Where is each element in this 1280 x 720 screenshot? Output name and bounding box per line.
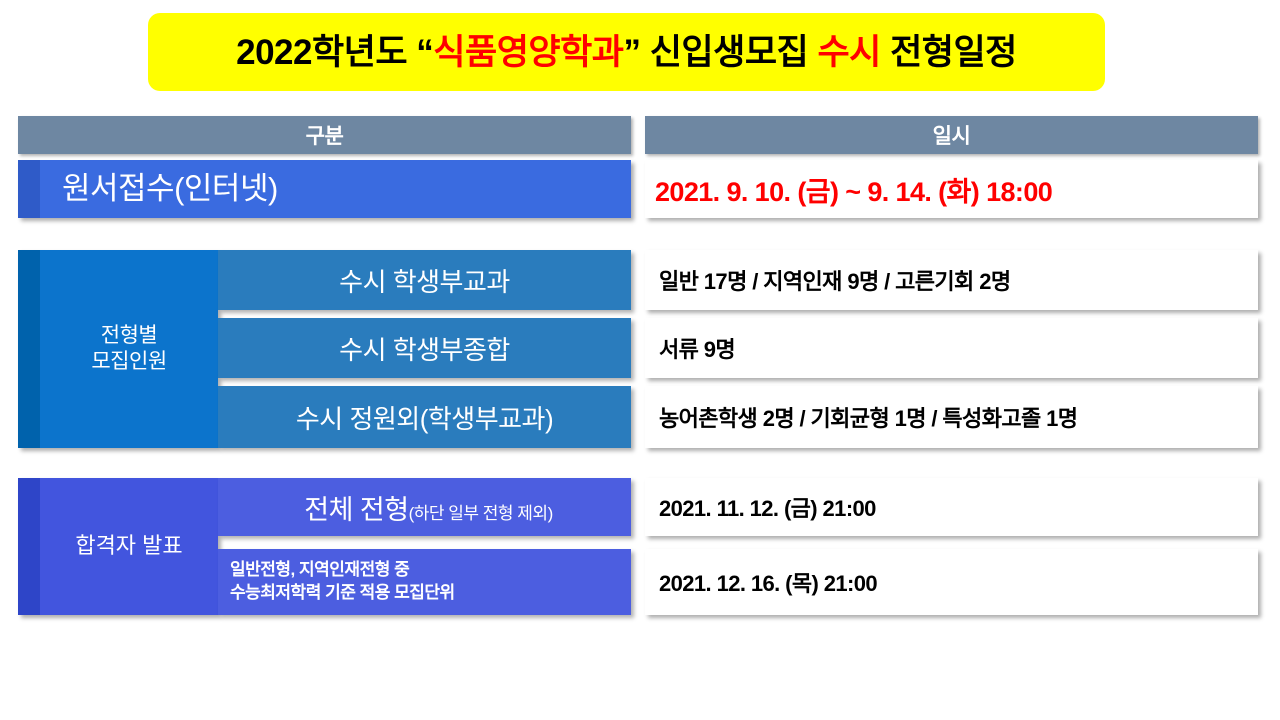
section-quota-label-line1: 전형별 xyxy=(101,324,157,347)
quota-item-value: 일반 17명 / 지역인재 9명 / 고른기회 2명 xyxy=(645,250,1258,310)
announcement-item-name-line1: 일반전형, 지역인재전형 중 xyxy=(230,560,409,579)
section-quota-label: 전형별 모집인원 xyxy=(40,250,218,448)
quota-item-value: 서류 9명 xyxy=(645,318,1258,378)
title-susi-highlight: 수시 xyxy=(817,33,880,72)
title-middle: ” 신입생모집 xyxy=(624,33,818,72)
row-application-value: 2021. 9. 10. (금) ~ 9. 14. (화) 18:00 xyxy=(645,160,1258,218)
quota-item-name: 수시 학생부교과 xyxy=(218,250,631,310)
announcement-item-value: 2021. 12. 16. (목) 21:00 xyxy=(645,549,1258,615)
title-suffix: 전형일정 xyxy=(881,33,1017,72)
section-announcement-label-block: 합격자 발표 xyxy=(18,478,218,615)
announcement-item-name: 일반전형, 지역인재전형 중 수능최저학력 기준 적용 모집단위 xyxy=(218,549,631,615)
title-banner: 2022학년도 “식품영양학과” 신입생모집 수시 전형일정 xyxy=(148,13,1105,91)
announcement-item-name-note: (하단 일부 전형 제외) xyxy=(409,504,553,523)
section-accent-edge xyxy=(18,250,40,448)
section-accent-edge xyxy=(18,478,40,615)
row-accent-edge xyxy=(18,160,40,218)
slide-root: 2022학년도 “식품영양학과” 신입생모집 수시 전형일정 구분 일시 원서접… xyxy=(0,0,1280,720)
section-announcement-label: 합격자 발표 xyxy=(40,478,218,615)
title-prefix: 2022학년도 “ xyxy=(236,33,433,72)
row-application-label-block: 원서접수(인터넷) xyxy=(18,160,631,218)
column-header-datetime: 일시 xyxy=(645,116,1258,154)
quota-item-name: 수시 정원외(학생부교과) xyxy=(218,386,631,448)
title-department: 식품영양학과 xyxy=(433,33,623,72)
announcement-item-name: 전체 전형(하단 일부 전형 제외) xyxy=(218,478,631,536)
section-quota-label-block: 전형별 모집인원 xyxy=(18,250,218,448)
quota-item-value: 농어촌학생 2명 / 기회균형 1명 / 특성화고졸 1명 xyxy=(645,386,1258,448)
quota-item-name: 수시 학생부종합 xyxy=(218,318,631,378)
row-application-label: 원서접수(인터넷) xyxy=(40,160,631,218)
announcement-item-name-main: 전체 전형 xyxy=(304,495,408,525)
announcement-item-value: 2021. 11. 12. (금) 21:00 xyxy=(645,478,1258,536)
column-header-category: 구분 xyxy=(18,116,631,154)
section-quota-label-line2: 모집인원 xyxy=(91,350,166,373)
announcement-item-name-line2: 수능최저학력 기준 적용 모집단위 xyxy=(230,583,455,602)
page-title: 2022학년도 “식품영양학과” 신입생모집 수시 전형일정 xyxy=(236,35,1017,70)
